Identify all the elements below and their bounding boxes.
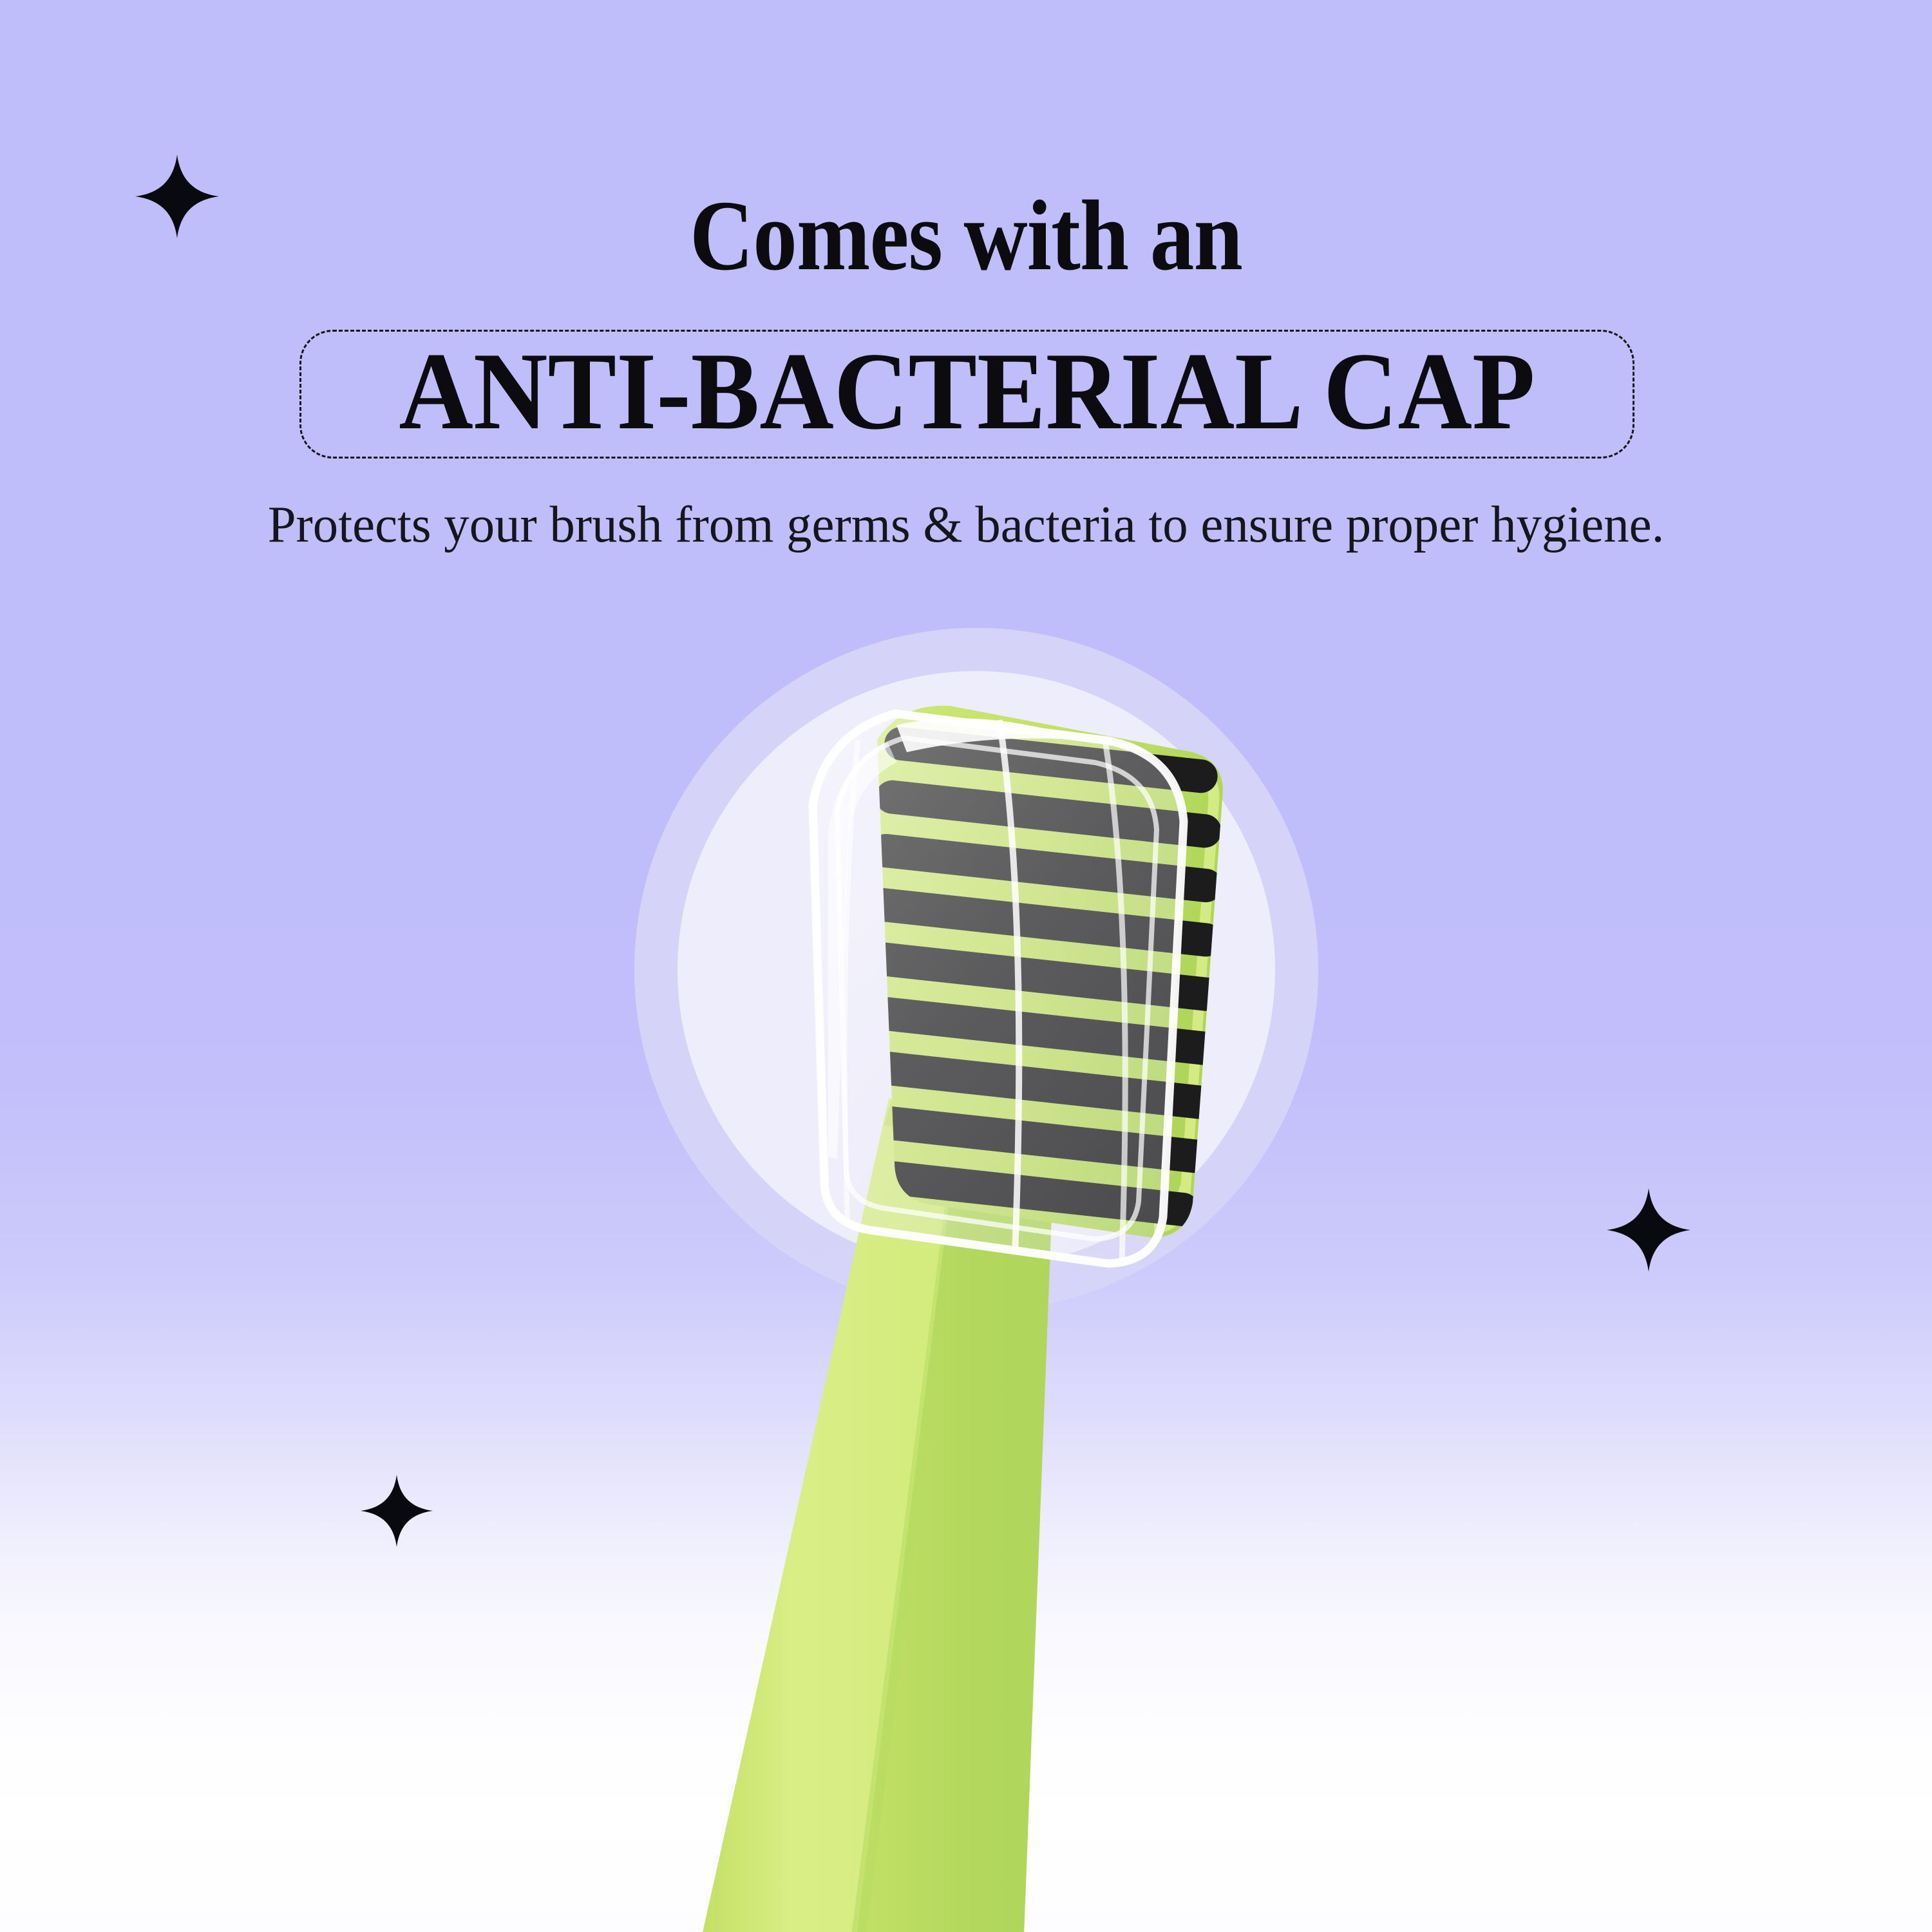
sparkle-top-left-icon: [135, 155, 219, 238]
status-badge: ANTI-BACTERIAL CAP: [299, 330, 1634, 459]
product-feature-card: Comes with an ANTI-BACTERIAL CAP Protect…: [0, 0, 1932, 1932]
badge-label: ANTI-BACTERIAL CAP: [399, 336, 1535, 447]
subtitle-text: Protects your brush from germs & bacteri…: [15, 495, 1918, 555]
sparkle-bottom-left-icon: [361, 1475, 433, 1547]
halo-inner-glow: [677, 671, 1275, 1269]
page-title: Comes with an: [116, 185, 1816, 286]
sparkle-mid-right-icon: [1607, 1188, 1690, 1272]
